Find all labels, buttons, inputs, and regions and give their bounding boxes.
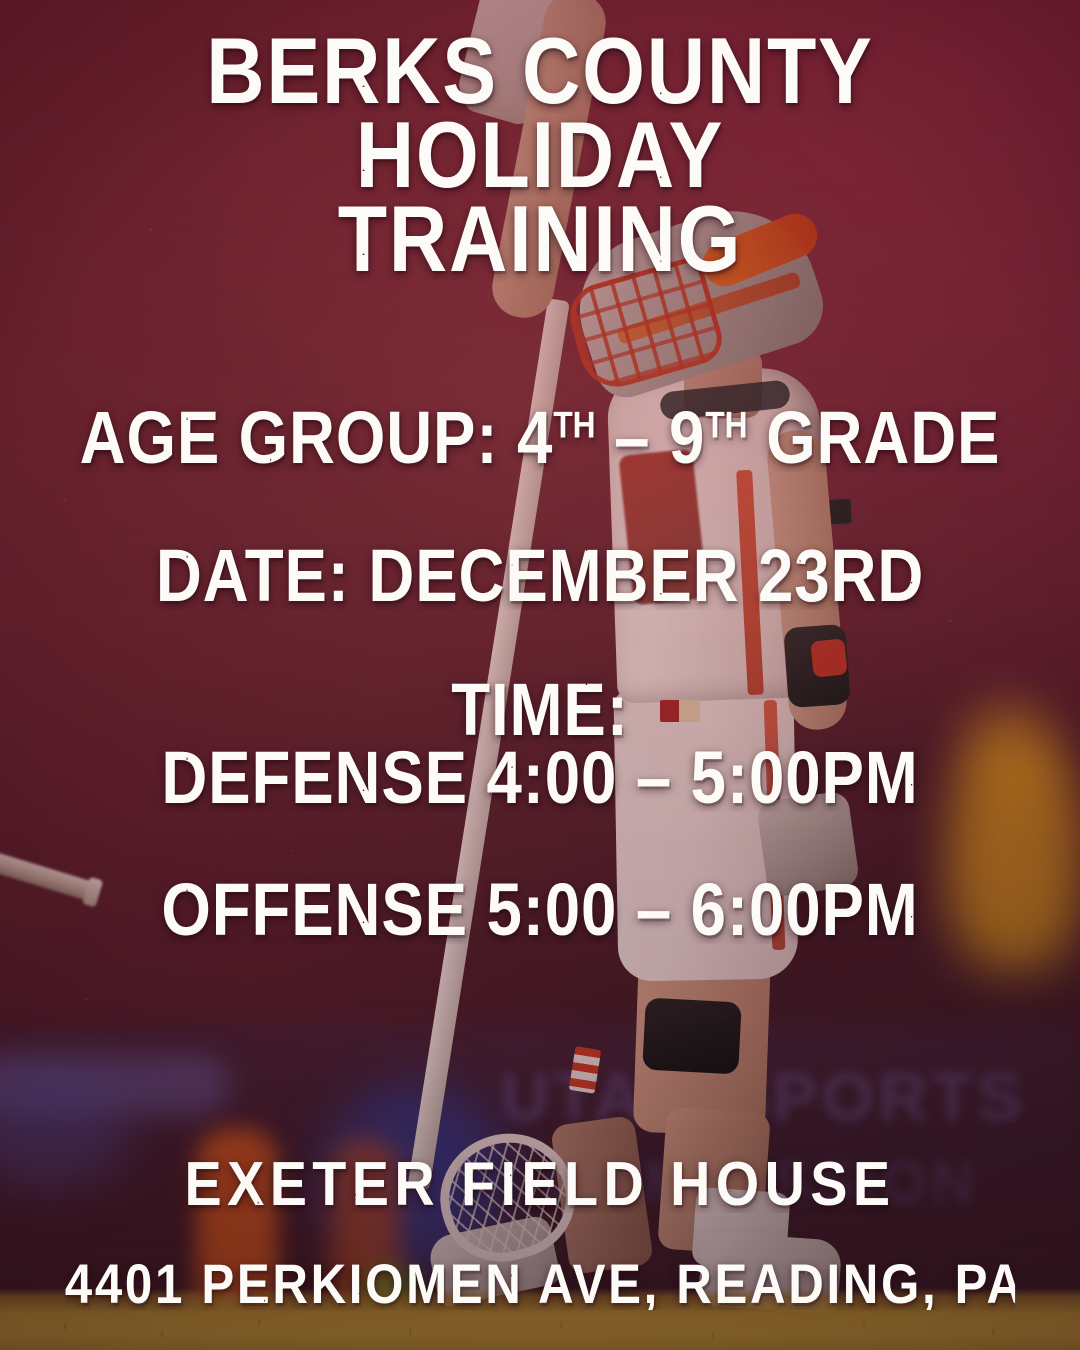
age-group-prefix: AGE GROUP: 4 [80, 396, 554, 479]
age-group-line: AGE GROUP: 4TH – 9TH GRADE [76, 404, 1005, 472]
promotional-flyer: UTAH SPORTS COMMISSION [0, 0, 1080, 1350]
flyer-copy: BERKS COUNTY HOLIDAY TRAINING AGE GROUP:… [0, 0, 1080, 1350]
age-group-ordinal-second: TH [705, 404, 747, 445]
title-line-3: TRAINING [76, 196, 1005, 282]
time-label: TIME: [76, 676, 1005, 744]
offense-session-line: OFFENSE 5:00 – 6:00PM [76, 876, 1005, 944]
venue-address: 4401 PERKIOMEN AVE, READING, PA 19606 [65, 1258, 1015, 1310]
age-group-suffix: GRADE [748, 396, 1001, 479]
title-line-1: BERKS COUNTY [76, 28, 1005, 114]
title-line-2: HOLIDAY [76, 112, 1005, 198]
age-group-ordinal-first: TH [553, 404, 595, 445]
venue-name: EXETER FIELD HOUSE [54, 1156, 1026, 1213]
age-group-separator: – 9 [596, 396, 706, 479]
date-line: DATE: DECEMBER 23RD [76, 542, 1005, 610]
defense-session-line: DEFENSE 4:00 – 5:00PM [76, 744, 1005, 812]
